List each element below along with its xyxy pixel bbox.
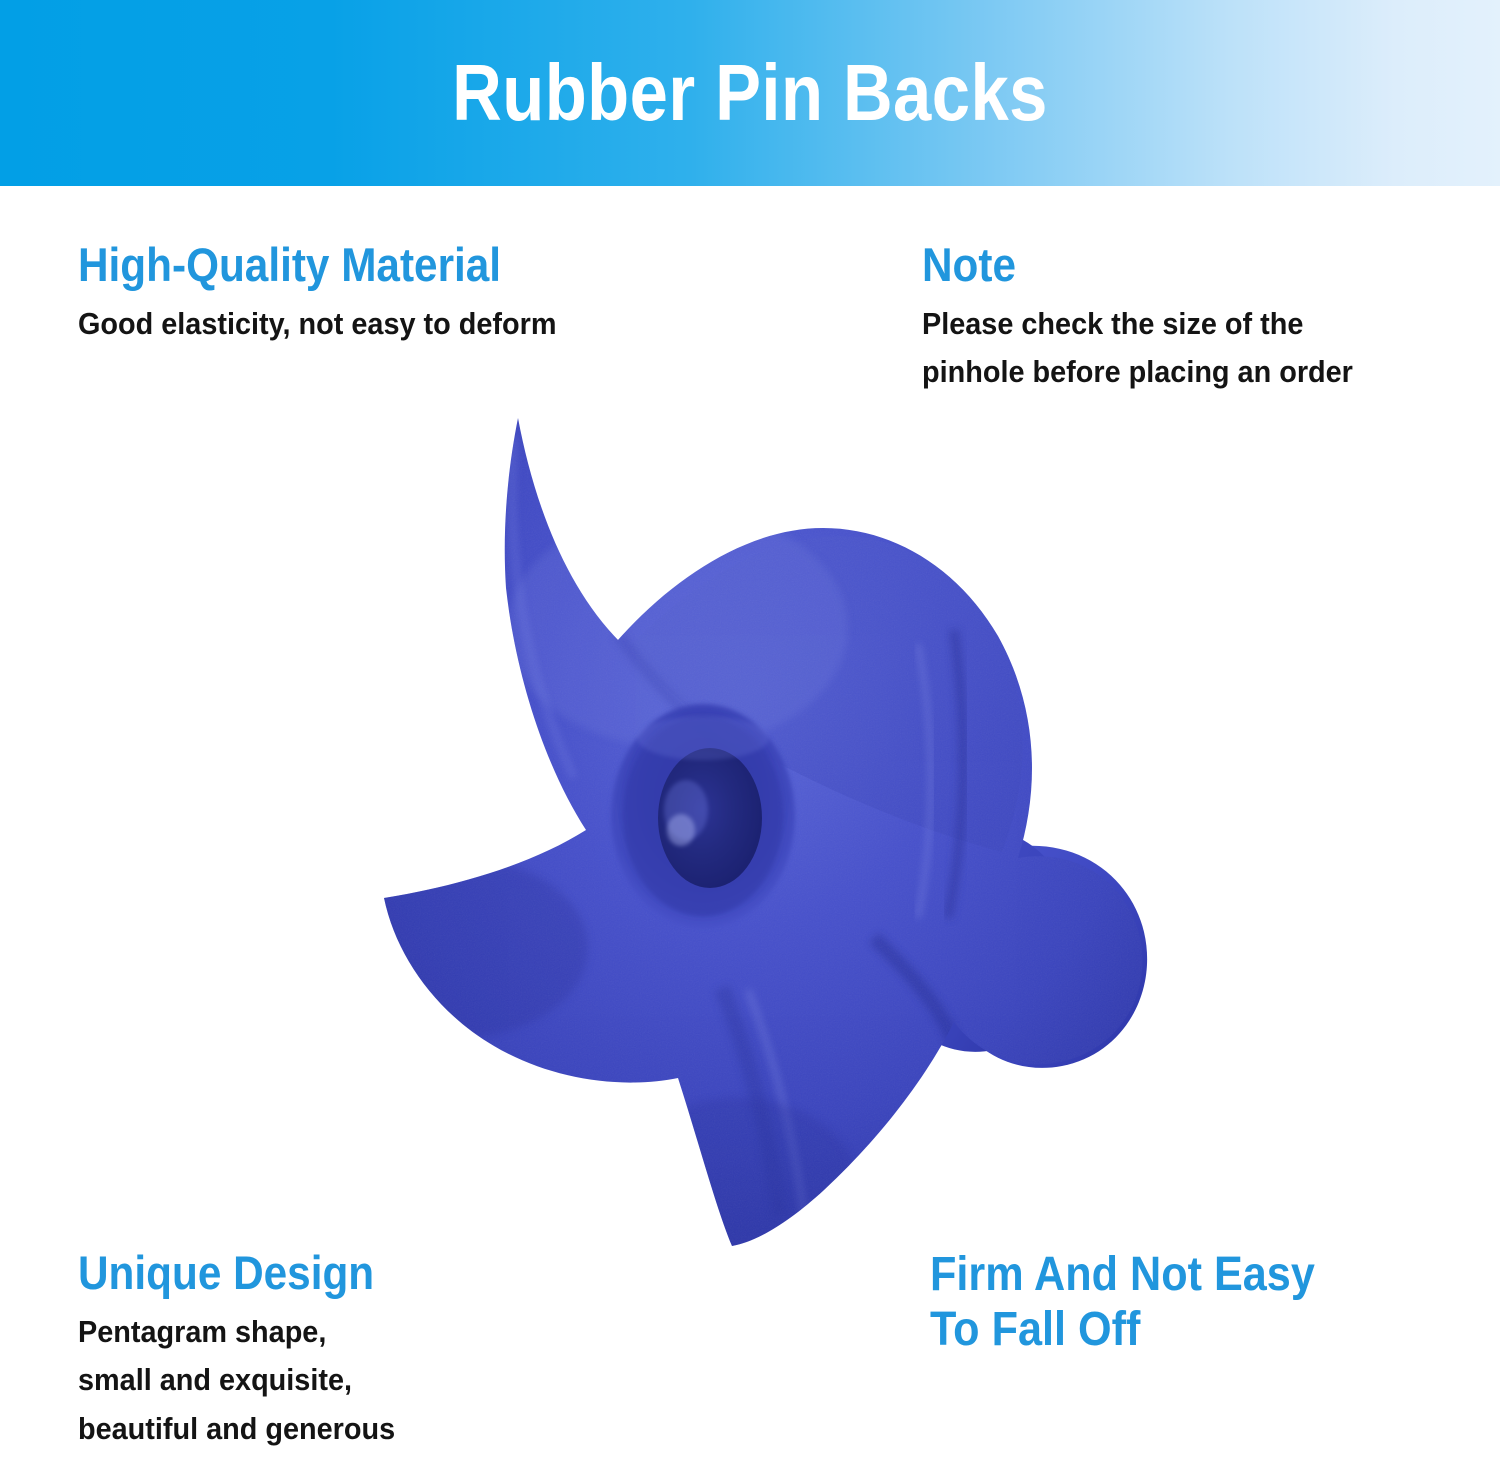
feature-title-design: Unique Design: [78, 1248, 501, 1298]
feature-body-note: Please check the size of the pinhole bef…: [922, 300, 1424, 397]
product-infographic: Rubber Pin Backs: [0, 0, 1500, 1464]
feature-body-design: Pentagram shape, small and exquisite, be…: [78, 1308, 515, 1454]
center-pinhole-icon: [611, 704, 795, 928]
feature-note: Note Please check the size of the pinhol…: [922, 240, 1462, 397]
feature-high-quality-material: High-Quality Material Good elasticity, n…: [78, 240, 698, 348]
feature-title-note: Note: [922, 240, 1408, 290]
feature-title-material: High-Quality Material: [78, 240, 636, 290]
feature-body-material: Good elasticity, not easy to deform: [78, 300, 655, 349]
feature-firm-not-easy-fall-off: Firm And Not Easy To Fall Off: [930, 1248, 1470, 1367]
header-banner: Rubber Pin Backs: [0, 0, 1500, 186]
feature-title-firm: Firm And Not Easy To Fall Off: [930, 1248, 1416, 1357]
product-image: [318, 378, 1198, 1258]
page-title: Rubber Pin Backs: [105, 0, 1395, 186]
feature-unique-design: Unique Design Pentagram shape, small and…: [78, 1248, 548, 1454]
